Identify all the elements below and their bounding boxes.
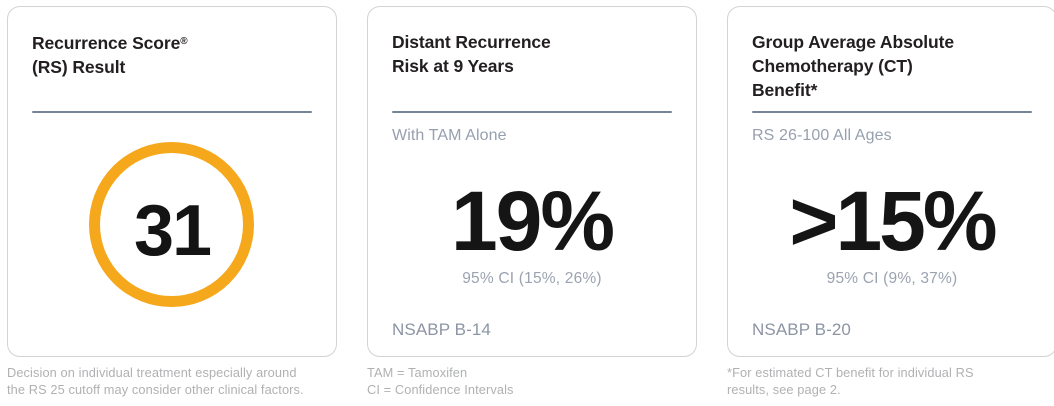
result-column-chemotherapy-benefit: Group Average Absolute Chemotherapy (CT)… (720, 0, 1054, 406)
distant-recurrence-risk-value: 19% (392, 179, 672, 263)
card-title-recurrence-score: Recurrence Score®(RS) Result (32, 30, 312, 79)
title-divider (32, 111, 312, 113)
card-title-distant-recurrence-risk: Distant Recurrence Risk at 9 Years (392, 30, 672, 78)
card-title-line2: (RS) Result (32, 57, 125, 77)
recurrence-score-value: 31 (32, 142, 312, 322)
card-body: Recurrence Score®(RS) Result 31 (32, 7, 312, 356)
card-title-chemotherapy-benefit: Group Average Absolute Chemotherapy (CT)… (752, 30, 1032, 102)
card-distant-recurrence-risk[interactable]: Distant Recurrence Risk at 9 Years With … (367, 6, 697, 357)
trial-name-chemotherapy-benefit: NSABP B-20 (752, 319, 1032, 341)
confidence-interval-chemotherapy-benefit: 95% CI (9%, 37%) (752, 269, 1032, 289)
card-body: Distant Recurrence Risk at 9 Years With … (392, 7, 672, 356)
footnote-recurrence-score: Decision on individual treatment especia… (7, 364, 339, 398)
confidence-interval-distant-recurrence-risk: 95% CI (15%, 26%) (392, 269, 672, 289)
card-title-text: Recurrence Score (32, 33, 180, 53)
card-recurrence-score[interactable]: Recurrence Score®(RS) Result 31 (7, 6, 337, 357)
score-ring-wrapper: 31 (32, 142, 312, 322)
footnote-distant-recurrence-risk: TAM = Tamoxifen CI = Confidence Interval… (367, 364, 699, 398)
card-body: Group Average Absolute Chemotherapy (CT)… (752, 7, 1032, 356)
card-chemotherapy-benefit[interactable]: Group Average Absolute Chemotherapy (CT)… (727, 6, 1054, 357)
card-subtitle-distant-recurrence-risk: With TAM Alone (392, 125, 672, 147)
chemotherapy-benefit-value: >15% (752, 179, 1032, 263)
footnote-chemotherapy-benefit: *For estimated CT benefit for individual… (727, 364, 1054, 398)
oncotype-results-panel: Recurrence Score®(RS) Result 31 Decision… (0, 0, 1054, 406)
title-divider (392, 111, 672, 113)
card-subtitle-chemotherapy-benefit: RS 26-100 All Ages (752, 125, 1032, 147)
title-divider (752, 111, 1032, 113)
registered-trademark-icon: ® (180, 36, 187, 47)
result-column-distant-recurrence-risk: Distant Recurrence Risk at 9 Years With … (360, 0, 702, 406)
result-column-recurrence-score: Recurrence Score®(RS) Result 31 Decision… (0, 0, 342, 406)
trial-name-distant-recurrence-risk: NSABP B-14 (392, 319, 672, 341)
